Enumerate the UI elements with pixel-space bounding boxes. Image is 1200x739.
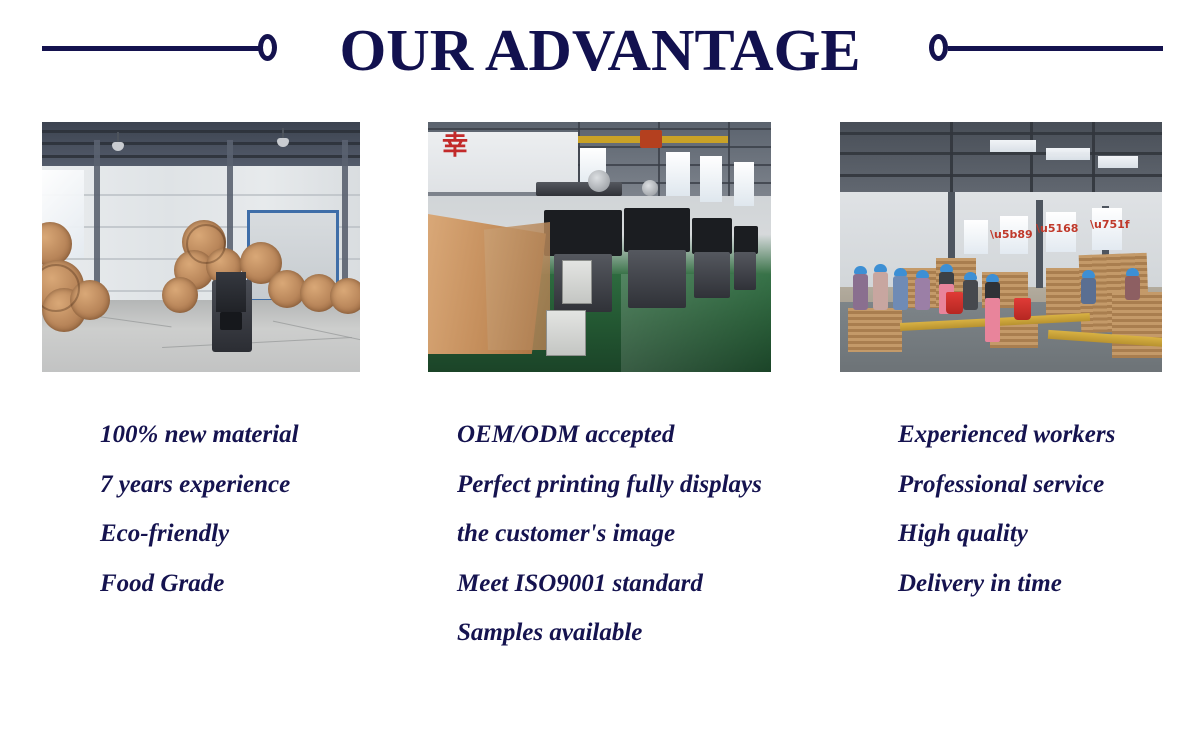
photo-printing-production-line: 幸 bbox=[428, 122, 771, 372]
list-item: Meet ISO9001 standard bbox=[457, 559, 877, 609]
photo-paper-roll-warehouse bbox=[42, 122, 360, 372]
advantage-banner: OUR ADVANTAGE bbox=[0, 0, 1200, 739]
advantage-column-3: \u5b89 \u5168 \u751f bbox=[840, 122, 1162, 372]
header: OUR ADVANTAGE bbox=[0, 0, 1200, 105]
advantage-column-1: 100% new material 7 years experience Eco… bbox=[42, 122, 360, 372]
photo-workers-sorting-cardboard: \u5b89 \u5168 \u751f bbox=[840, 122, 1162, 372]
list-item: Professional service bbox=[898, 460, 1200, 510]
bullet-list-column-2: OEM/ODM accepted Perfect printing fully … bbox=[417, 410, 877, 658]
list-item: Delivery in time bbox=[898, 559, 1200, 609]
list-item: the customer's image bbox=[457, 509, 877, 559]
list-item: Samples available bbox=[457, 608, 877, 658]
list-item: Perfect printing fully displays bbox=[457, 460, 877, 510]
bullet-list-column-3: Experienced workers Professional service… bbox=[858, 410, 1200, 608]
list-item: Experienced workers bbox=[898, 410, 1200, 460]
list-item: High quality bbox=[898, 509, 1200, 559]
ring-right-icon bbox=[929, 34, 948, 61]
list-item: OEM/ODM accepted bbox=[457, 410, 877, 460]
advantage-column-2: 幸 OEM/ODM accep bbox=[428, 122, 771, 372]
header-rule-right bbox=[948, 46, 1163, 51]
wall-character: 幸 bbox=[442, 134, 468, 158]
